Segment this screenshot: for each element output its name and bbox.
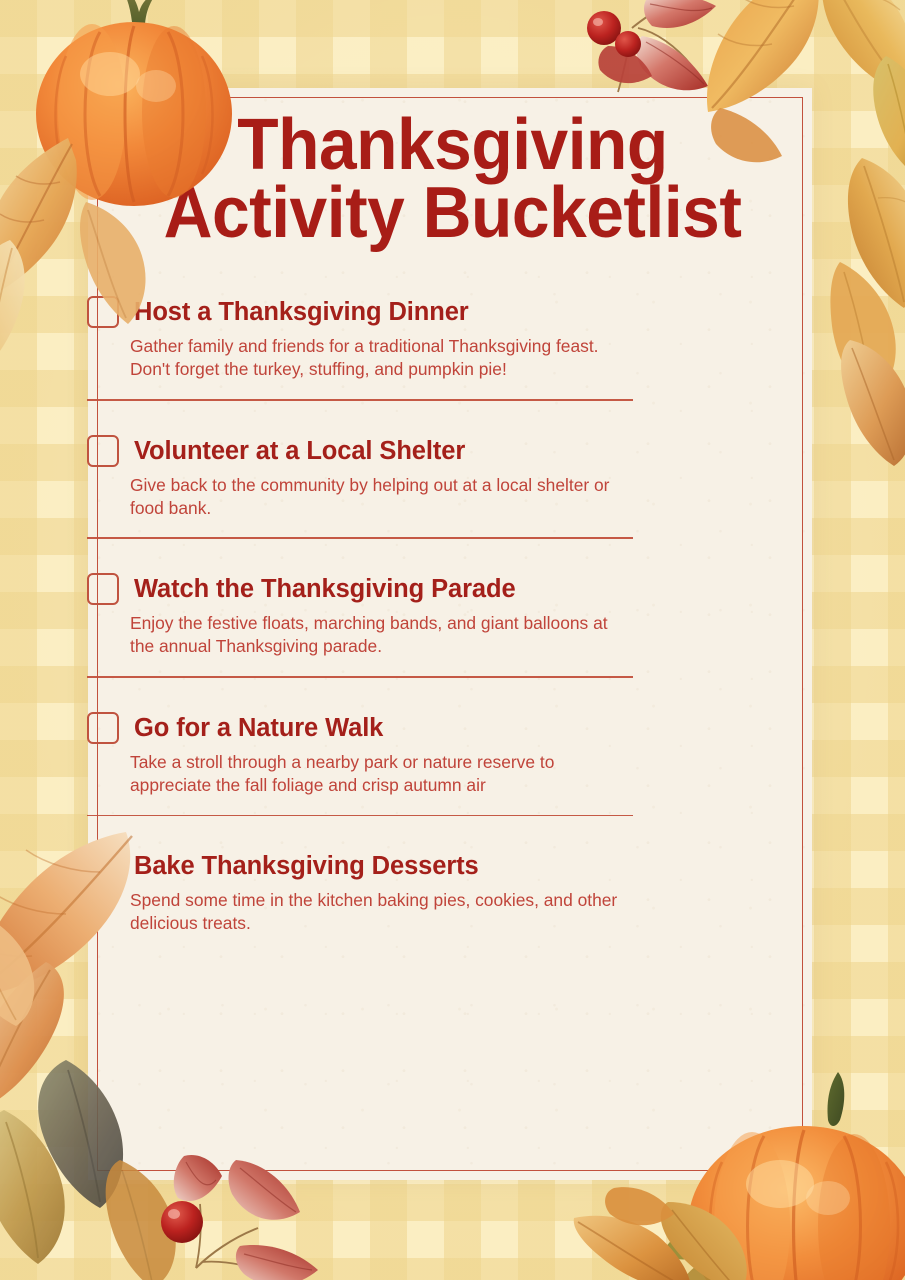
thanksgiving-bucketlist-poster: Thanksgiving Activity Bucketlist Host a … bbox=[0, 0, 905, 1280]
list-item-header: Bake Thanksgiving Desserts bbox=[87, 850, 633, 882]
list-item-description: Take a stroll through a nearby park or n… bbox=[130, 751, 628, 797]
checkbox-icon[interactable] bbox=[87, 573, 119, 605]
list-divider bbox=[87, 537, 633, 539]
list-item-title: Volunteer at a Local Shelter bbox=[134, 437, 465, 465]
list-item-description: Gather family and friends for a traditio… bbox=[130, 335, 628, 381]
list-divider bbox=[87, 676, 633, 678]
autumn-leaf-right-lower-illustration bbox=[828, 330, 905, 470]
checkbox-icon[interactable] bbox=[87, 850, 119, 882]
list-item-description: Give back to the community by helping ou… bbox=[130, 474, 628, 520]
list-item-title: Bake Thanksgiving Desserts bbox=[134, 852, 479, 880]
list-item[interactable]: Bake Thanksgiving Desserts Spend some ti… bbox=[87, 832, 633, 951]
list-item-header: Watch the Thanksgiving Parade bbox=[87, 573, 633, 605]
checkbox-icon[interactable] bbox=[87, 435, 119, 467]
checklist: Host a Thanksgiving Dinner Gather family… bbox=[87, 296, 633, 951]
list-item[interactable]: Host a Thanksgiving Dinner Gather family… bbox=[87, 296, 633, 417]
list-divider bbox=[87, 815, 633, 817]
list-item-title: Host a Thanksgiving Dinner bbox=[134, 298, 469, 326]
list-item[interactable]: Go for a Nature Walk Take a stroll throu… bbox=[87, 694, 633, 833]
list-item[interactable]: Volunteer at a Local Shelter Give back t… bbox=[87, 417, 633, 556]
page-title: Thanksgiving Activity Bucketlist bbox=[27, 112, 878, 247]
list-divider bbox=[87, 399, 633, 401]
list-item-header: Host a Thanksgiving Dinner bbox=[87, 296, 633, 328]
checkbox-icon[interactable] bbox=[87, 712, 119, 744]
list-item-description: Enjoy the festive floats, marching bands… bbox=[130, 612, 628, 658]
list-item-header: Go for a Nature Walk bbox=[87, 712, 633, 744]
list-item-title: Watch the Thanksgiving Parade bbox=[134, 575, 516, 603]
autumn-leaves-bottom-right-illustration bbox=[556, 1178, 746, 1280]
list-item-header: Volunteer at a Local Shelter bbox=[87, 435, 633, 467]
checkbox-icon[interactable] bbox=[87, 296, 119, 328]
list-item[interactable]: Watch the Thanksgiving Parade Enjoy the … bbox=[87, 555, 633, 694]
list-item-description: Spend some time in the kitchen baking pi… bbox=[130, 889, 628, 935]
list-item-title: Go for a Nature Walk bbox=[134, 714, 383, 742]
